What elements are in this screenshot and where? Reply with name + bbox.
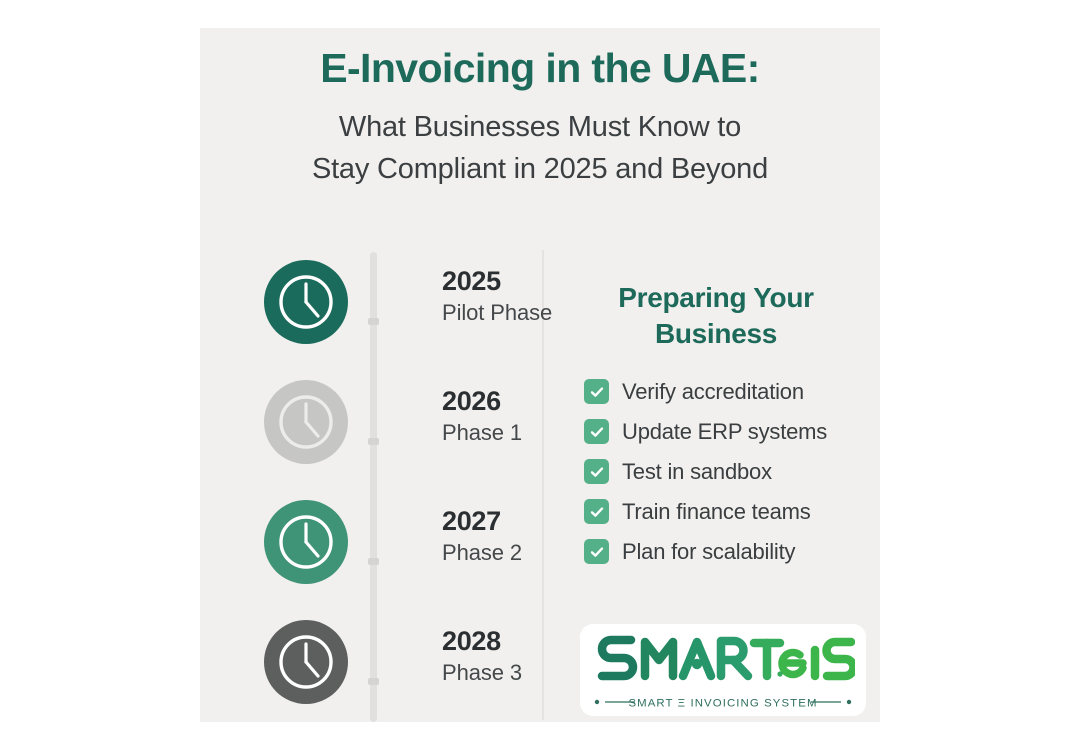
timeline-year: 2028 — [442, 626, 592, 657]
list-item[interactable]: Verify accreditation — [568, 379, 864, 405]
logo-tagline-rule: SMART Ξ INVOICING SYSTEM — [591, 694, 855, 710]
page-subtitle: What Businesses Must Know to Stay Compli… — [200, 106, 880, 190]
infographic-card: E-Invoicing in the UAE: What Businesses … — [200, 28, 880, 722]
list-item[interactable]: Train finance teams — [568, 499, 864, 525]
checklist-label: Test in sandbox — [622, 459, 772, 485]
checklist-panel: Preparing Your Business Verify accredita… — [568, 252, 864, 579]
page-subtitle-line-1: What Businesses Must Know to — [200, 106, 880, 148]
clock-icon — [264, 500, 348, 584]
checklist-label: Verify accreditation — [622, 379, 804, 405]
checkmark-icon — [584, 379, 609, 404]
clock-icon — [264, 380, 348, 464]
brand-logo-card[interactable]: SMART Ξ INVOICING SYSTEM — [580, 624, 866, 716]
smarteis-logo-icon — [591, 630, 855, 694]
checkmark-icon — [584, 459, 609, 484]
timeline-phase: Phase 3 — [442, 660, 592, 686]
header-block: E-Invoicing in the UAE: What Businesses … — [200, 46, 880, 190]
timeline-item-2027[interactable]: 2027 Phase 2 — [252, 486, 542, 606]
clock-icon — [264, 260, 348, 344]
checklist-label: Plan for scalability — [622, 539, 795, 565]
checklist-heading-line-1: Preparing Your — [568, 280, 864, 316]
checkmark-icon — [584, 539, 609, 564]
page-title: E-Invoicing in the UAE: — [200, 46, 880, 92]
checkmark-icon — [584, 499, 609, 524]
timeline-item-2025[interactable]: 2025 Pilot Phase — [252, 246, 542, 366]
body-columns: 2025 Pilot Phase 2026 — [200, 228, 880, 722]
checklist-label: Train finance teams — [622, 499, 811, 525]
logo-tagline: SMART Ξ INVOICING SYSTEM — [628, 697, 817, 709]
timeline-item-2028[interactable]: 2028 Phase 3 — [252, 606, 542, 726]
list-item[interactable]: Plan for scalability — [568, 539, 864, 565]
page-subtitle-line-2: Stay Compliant in 2025 and Beyond — [200, 148, 880, 190]
infographic-canvas: E-Invoicing in the UAE: What Businesses … — [0, 0, 1080, 750]
checklist-heading: Preparing Your Business — [568, 280, 864, 353]
timeline-list: 2025 Pilot Phase 2026 — [252, 246, 542, 726]
list-item[interactable]: Update ERP systems — [568, 419, 864, 445]
clock-icon — [264, 620, 348, 704]
checkmark-icon — [584, 419, 609, 444]
checklist-items: Verify accreditation Update ERP systems — [568, 379, 864, 565]
timeline-item-text: 2028 Phase 3 — [442, 626, 592, 686]
checklist-label: Update ERP systems — [622, 419, 827, 445]
timeline-item-2026[interactable]: 2026 Phase 1 — [252, 366, 542, 486]
list-item[interactable]: Test in sandbox — [568, 459, 864, 485]
checklist-heading-line-2: Business — [568, 316, 864, 352]
